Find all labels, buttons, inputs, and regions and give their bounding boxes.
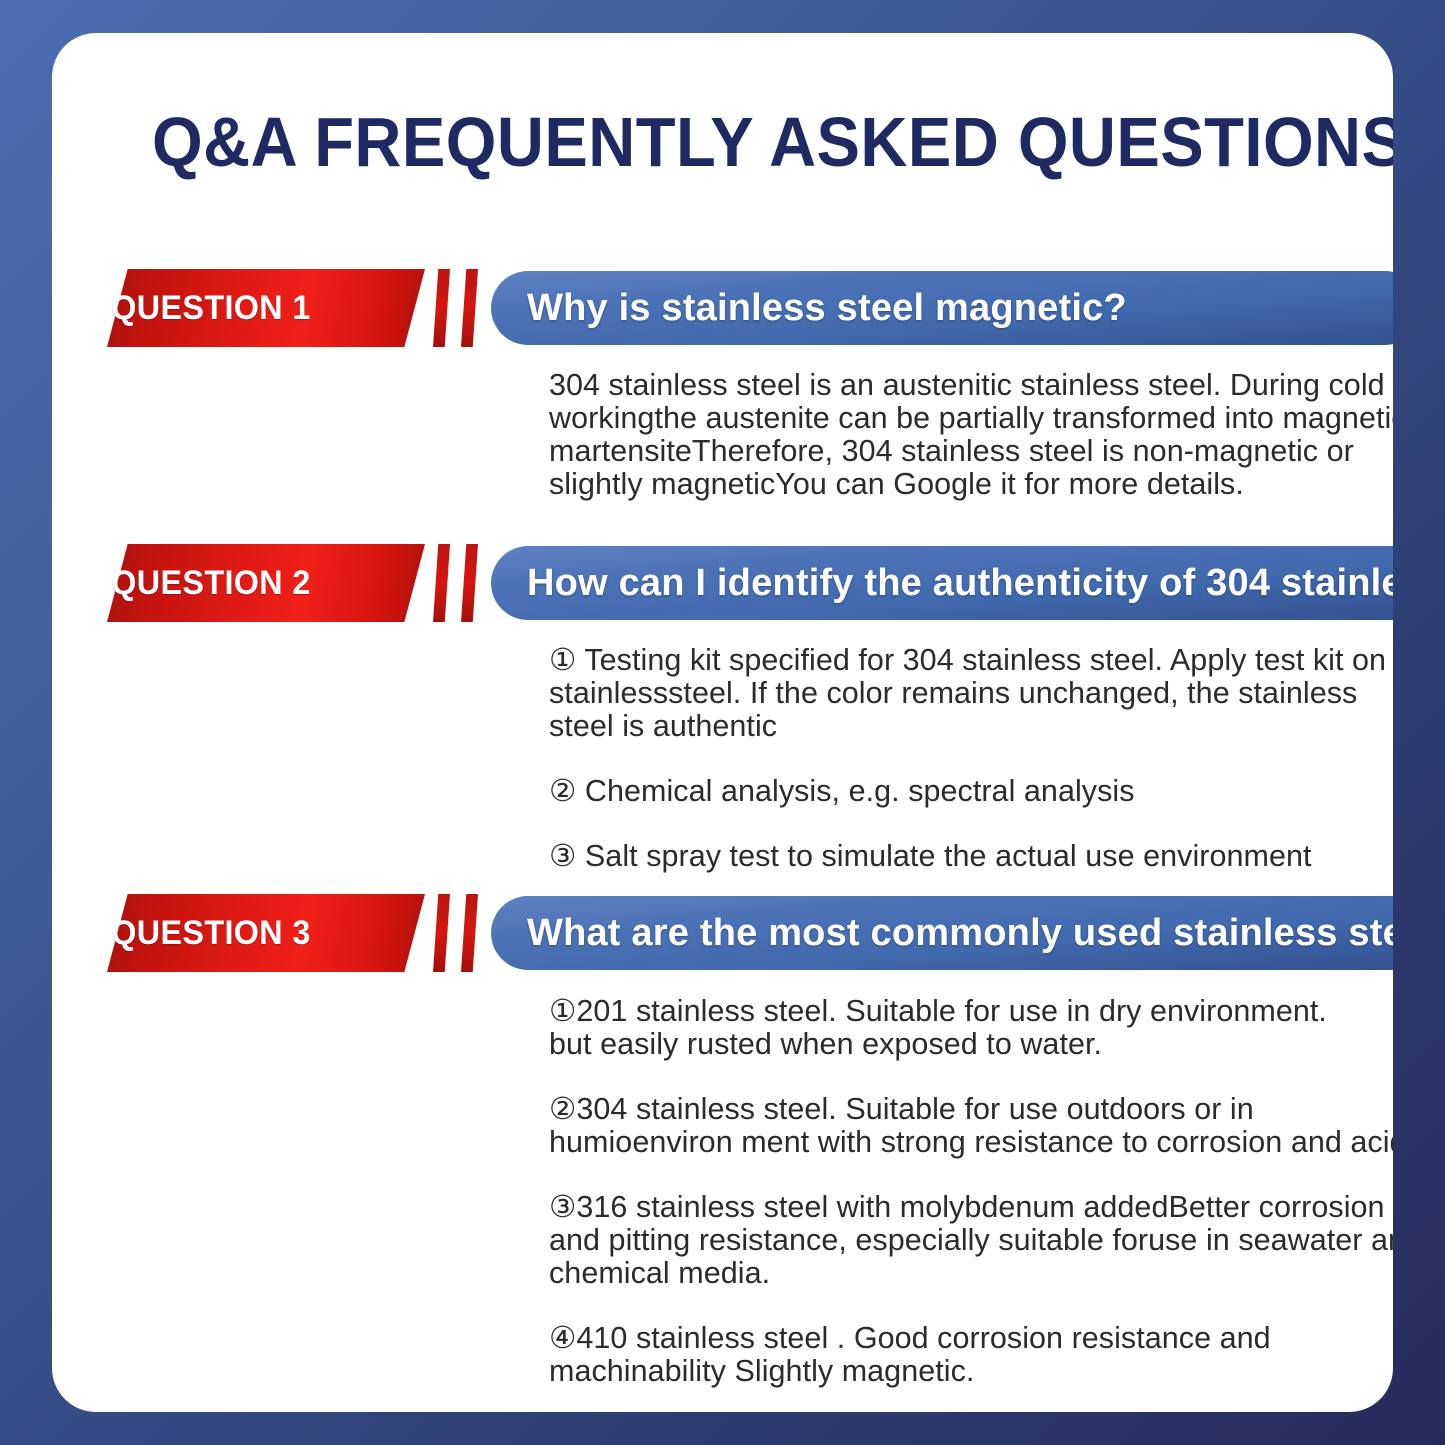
question-pill-3: What are the most commonly used stainles… — [491, 896, 1393, 970]
answer-paragraph: ①201 stainless steel. Suitable for use i… — [549, 995, 1393, 1028]
faq-header-3: QUESTION 3 What are the most commonly us… — [52, 894, 1393, 972]
answer-paragraph: ③ Salt spray test to simulate the actual… — [549, 840, 1393, 873]
answer-paragraph: ④410 stainless steel . Good corrosion re… — [549, 1322, 1393, 1388]
faq-item-1: QUESTION 1 Why is stainless steel magnet… — [52, 269, 1393, 347]
faq-card: Q&A FREQUENTLY ASKED QUESTIONS QUESTION … — [52, 33, 1393, 1412]
faq-item-3: QUESTION 3 What are the most commonly us… — [52, 894, 1393, 972]
answer-paragraph: ② Chemical analysis, e.g. spectral analy… — [549, 775, 1393, 808]
slash-icon — [461, 894, 478, 972]
answer-1: 304 stainless steel is an austenitic sta… — [549, 369, 1393, 501]
question-tag-label-1: QUESTION 1 — [60, 269, 362, 347]
question-tag-label-3: QUESTION 3 — [60, 894, 362, 972]
answer-paragraph: ① Testing kit specified for 304 stainles… — [549, 644, 1393, 743]
question-text-3: What are the most commonly used stainles… — [527, 912, 1393, 955]
answer-paragraph: ②304 stainless steel. Suitable for use o… — [549, 1093, 1393, 1159]
slash-icon — [461, 269, 478, 347]
question-text-2: How can I identify the authenticity of 3… — [527, 562, 1393, 605]
question-pill-1: Why is stainless steel magnetic? — [491, 271, 1393, 345]
faq-page: Q&A FREQUENTLY ASKED QUESTIONS QUESTION … — [0, 0, 1445, 1445]
answer-paragraph: 304 stainless steel is an austenitic sta… — [549, 369, 1393, 501]
answer-2: ① Testing kit specified for 304 stainles… — [549, 644, 1393, 873]
slash-icon — [433, 894, 450, 972]
answer-paragraph: but easily rusted when exposed to water. — [549, 1028, 1393, 1061]
answer-3: ①201 stainless steel. Suitable for use i… — [549, 995, 1393, 1388]
faq-item-2: QUESTION 2 How can I identify the authen… — [52, 544, 1393, 622]
faq-header-1: QUESTION 1 Why is stainless steel magnet… — [52, 269, 1393, 347]
question-tag-label-2: QUESTION 2 — [60, 544, 362, 622]
answer-paragraph: ③316 stainless steel with molybdenum add… — [549, 1191, 1393, 1290]
page-title: Q&A FREQUENTLY ASKED QUESTIONS — [152, 107, 1268, 177]
question-pill-2: How can I identify the authenticity of 3… — [491, 546, 1393, 620]
slash-icon — [433, 544, 450, 622]
question-text-1: Why is stainless steel magnetic? — [527, 287, 1127, 330]
slash-icon — [461, 544, 478, 622]
slash-icon — [433, 269, 450, 347]
faq-header-2: QUESTION 2 How can I identify the authen… — [52, 544, 1393, 622]
